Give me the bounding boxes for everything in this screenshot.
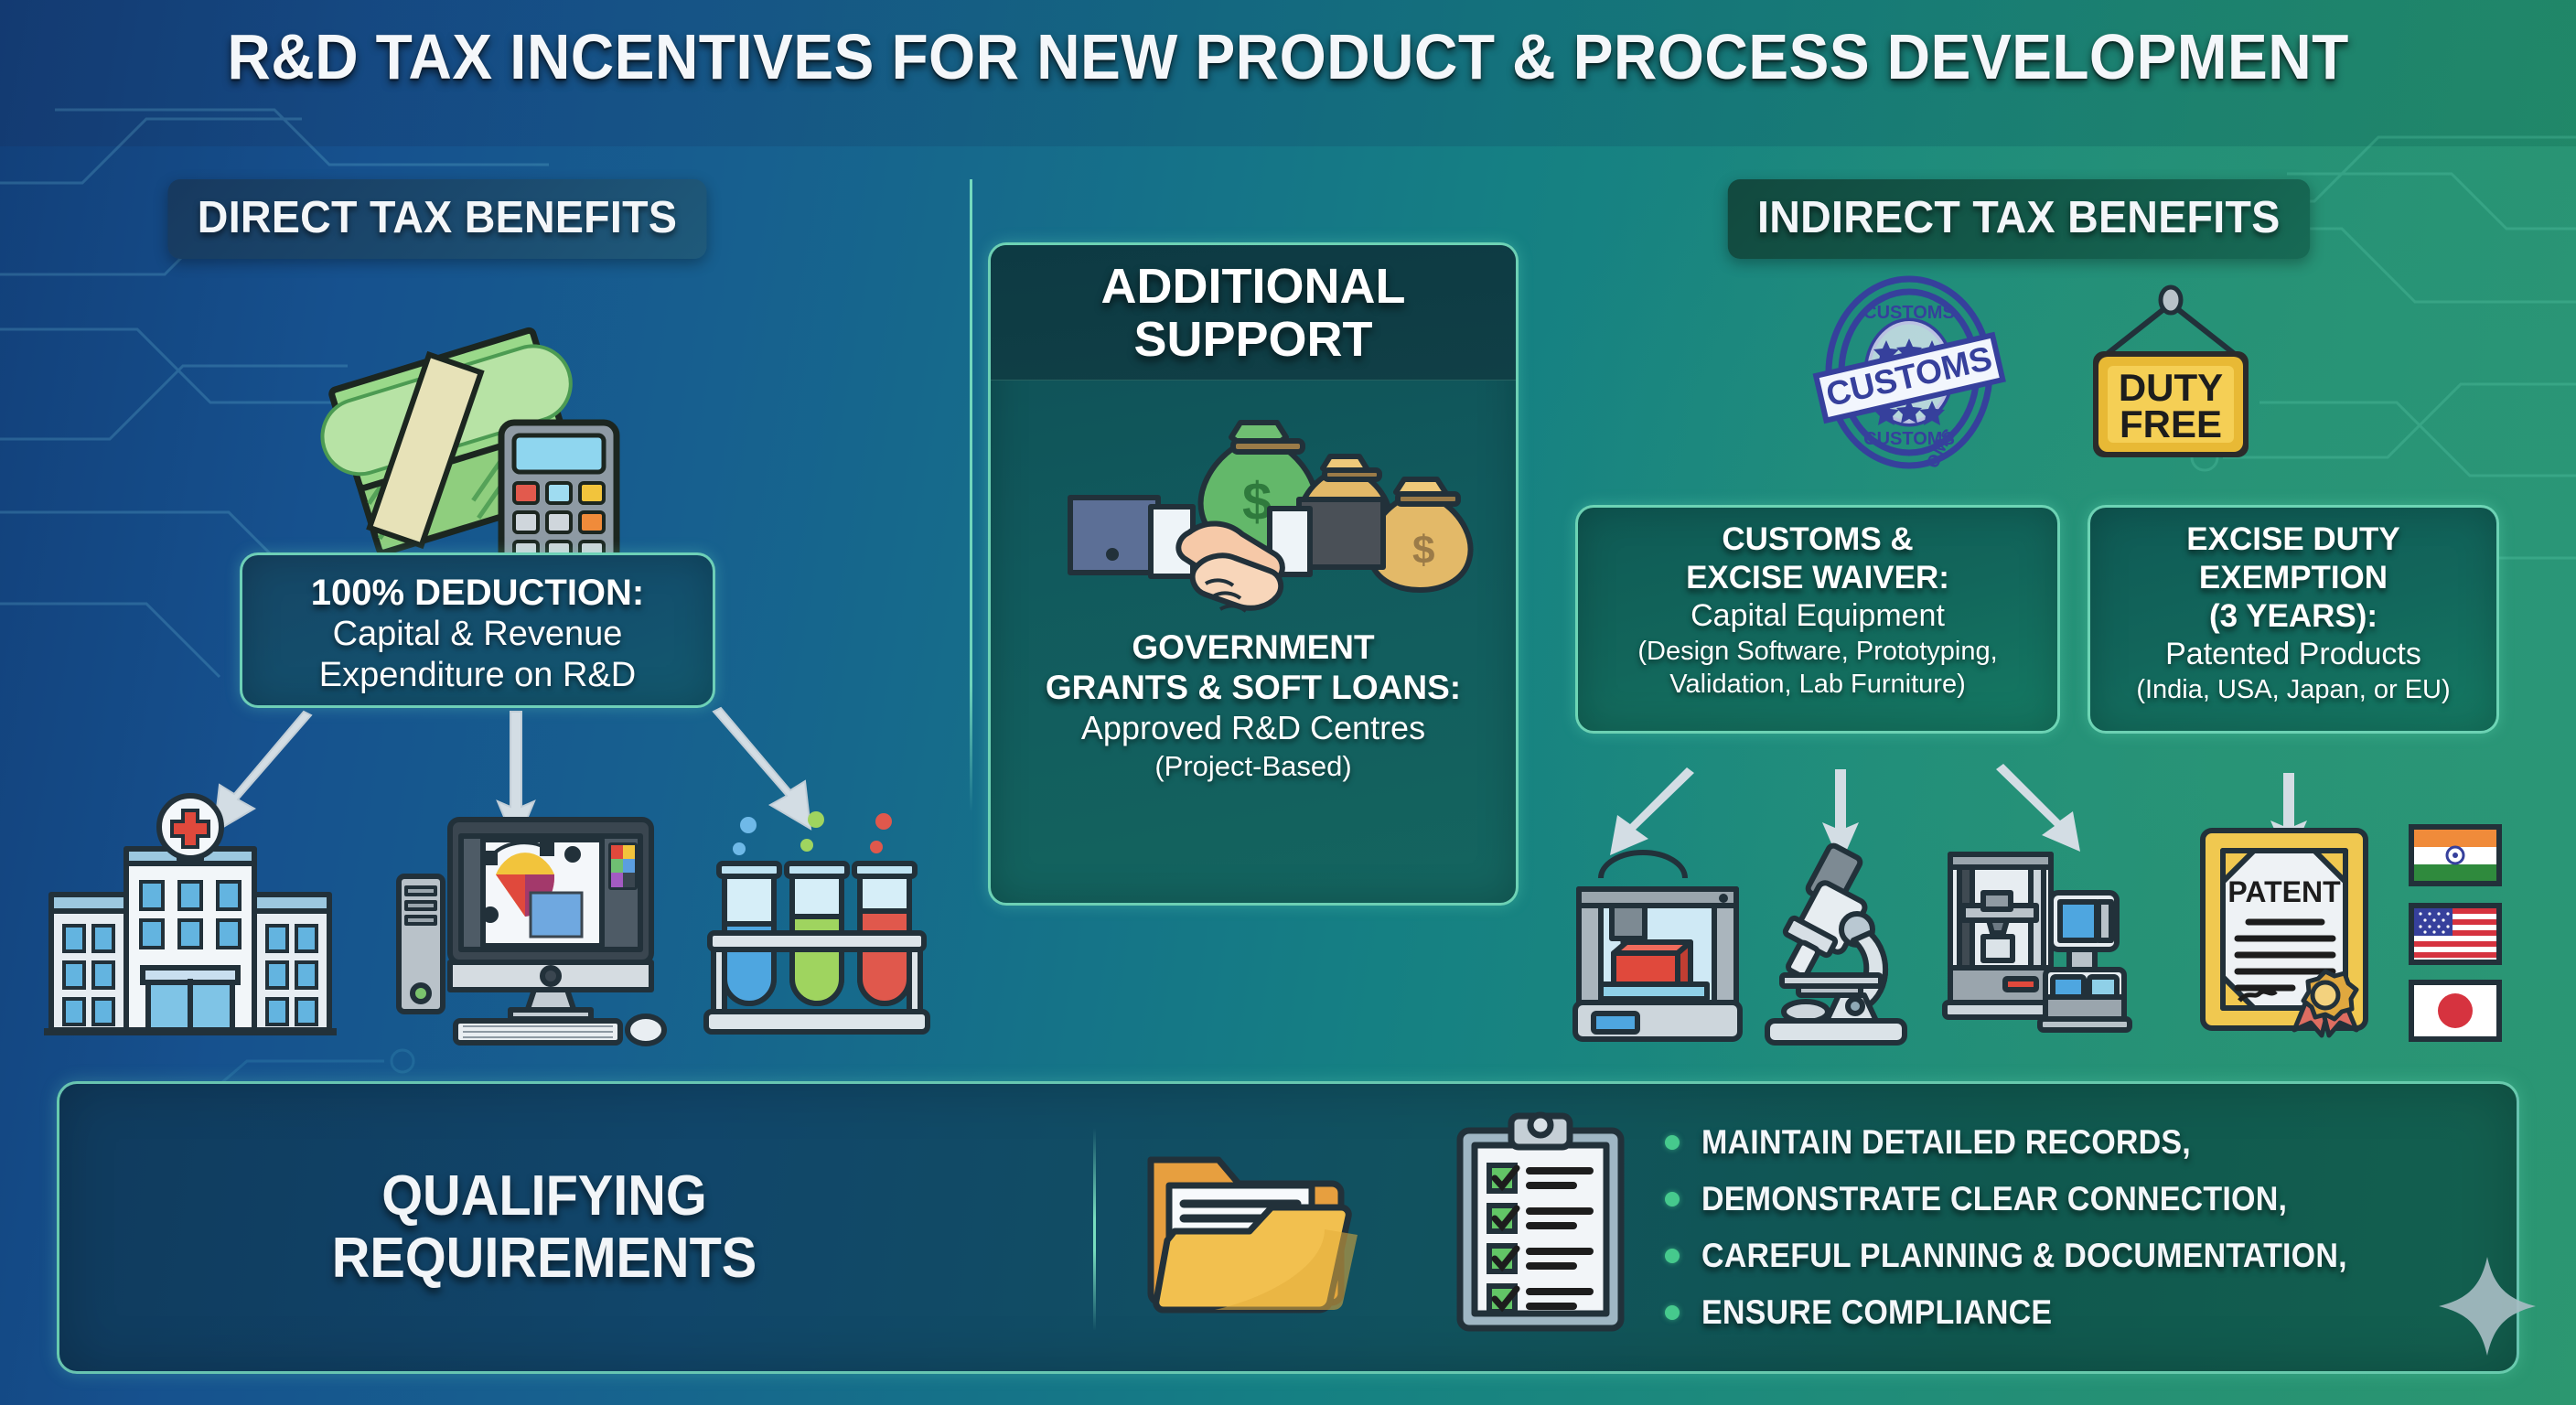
customs-line-2: (Design Software, Prototyping, — [1578, 635, 2057, 668]
support-footer-line-1: GOVERNMENT — [1004, 627, 1503, 668]
support-footer-line-4: (Project-Based) — [1004, 748, 1503, 785]
bullet-dot-icon — [1665, 1192, 1680, 1207]
qualifying-requirements-title: QUALIFYING REQUIREMENTS — [93, 1165, 995, 1290]
list-item: CAREFUL PLANNING & DOCUMENTATION, — [1665, 1228, 2488, 1284]
3d-printer-icon — [1570, 842, 1753, 1043]
customs-line-1: Capital Equipment — [1578, 597, 2057, 635]
excise-line-2: (India, USA, Japan, or EU) — [2090, 673, 2496, 706]
list-item: DEMONSTRATE CLEAR CONNECTION, — [1665, 1171, 2488, 1228]
svg-text:$: $ — [1412, 528, 1434, 573]
requirements-bullet-list: MAINTAIN DETAILED RECORDS, DEMONSTRATE C… — [1665, 1114, 2488, 1341]
vertical-divider — [970, 179, 972, 812]
cash-stack-calculator-icon — [302, 302, 668, 558]
customs-headline-line-2: EXCISE WAIVER: — [1578, 559, 2057, 597]
patent-certificate-icon: PATENT — [2195, 823, 2397, 1043]
excise-headline-line-2: EXEMPTION — [2090, 559, 2496, 597]
microscope-icon — [1762, 842, 1927, 1043]
arrow-right — [1996, 764, 2080, 852]
hospital-building-icon — [42, 805, 344, 1043]
flag-group — [2408, 823, 2517, 1043]
desktop-design-workstation-icon — [393, 798, 686, 1045]
customs-excise-waiver-card: CUSTOMS & EXCISE WAIVER: Capital Equipme… — [1575, 505, 2060, 734]
customs-rubber-stamp-icon: CUSTOMS CUSTOMS CUSTOMS CUSTOMS — [1813, 274, 2005, 471]
excise-line-1: Patented Products — [2090, 636, 2496, 673]
excise-duty-exemption-card: EXCISE DUTY EXEMPTION (3 YEARS): Patente… — [2088, 505, 2499, 734]
duty-free-hanging-sign-icon: DUTY FREE — [2066, 280, 2276, 463]
section-header-indirect-tax-benefits: INDIRECT TAX BENEFITS — [1728, 179, 2310, 259]
deduction-line-2: Expenditure on R&D — [242, 655, 713, 696]
clipboard-checklist-icon — [1451, 1109, 1634, 1337]
stamp-top-text: CUSTOMS — [1863, 303, 1955, 323]
bullet-dot-icon — [1665, 1249, 1680, 1263]
flag-japan-icon — [2411, 982, 2499, 1039]
flag-india-icon — [2411, 827, 2499, 884]
deduction-headline: 100% DEDUCTION: — [242, 572, 713, 614]
section-header-direct-tax-benefits: DIRECT TAX BENEFITS — [167, 179, 706, 259]
qr-title-line-1: QUALIFYING — [93, 1165, 995, 1228]
handshake-money-bags-icon: $ $$ — [1052, 390, 1454, 618]
page-title: R&D TAX INCENTIVES FOR NEW PRODUCT & PRO… — [77, 20, 2498, 93]
additional-support-header: ADDITIONAL SUPPORT — [991, 245, 1516, 381]
list-item: ENSURE COMPLIANCE — [1665, 1284, 2488, 1341]
duty-free-line-2: FREE — [2120, 402, 2222, 445]
excise-headline-line-1: EXCISE DUTY — [2090, 520, 2496, 559]
test-tube-rack-icon — [704, 796, 933, 1043]
excise-headline-line-3: (3 YEARS): — [2090, 597, 2496, 636]
list-item: MAINTAIN DETAILED RECORDS, — [1665, 1114, 2488, 1171]
deduction-line-1: Capital & Revenue — [242, 614, 713, 655]
customs-line-3: Validation, Lab Furniture) — [1578, 668, 2057, 701]
support-footer-line-2: GRANTS & SOFT LOANS: — [1004, 668, 1503, 708]
deduction-card: 100% DEDUCTION: Capital & Revenue Expend… — [240, 552, 715, 708]
four-point-sparkle-icon — [2437, 1255, 2538, 1357]
bullet-dot-icon — [1665, 1305, 1680, 1320]
customs-headline-line-1: CUSTOMS & — [1578, 520, 2057, 559]
universal-testing-machine-icon — [1943, 840, 2126, 1043]
stamp-bottom-text: CUSTOMS — [1863, 429, 1955, 449]
additional-support-panel: ADDITIONAL SUPPORT $ $$ — [988, 242, 1519, 906]
bullet-dot-icon — [1665, 1135, 1680, 1150]
flag-usa-icon — [2411, 906, 2499, 962]
support-footer-line-3: Approved R&D Centres — [1004, 708, 1503, 748]
support-heading-line-2: SUPPORT — [1101, 313, 1406, 366]
qr-title-line-2: REQUIREMENTS — [93, 1228, 995, 1290]
bottom-divider — [1093, 1128, 1096, 1331]
open-folder-documents-icon — [1142, 1123, 1352, 1334]
support-heading-line-1: ADDITIONAL — [1101, 260, 1406, 313]
patent-label: PATENT — [2227, 875, 2341, 908]
